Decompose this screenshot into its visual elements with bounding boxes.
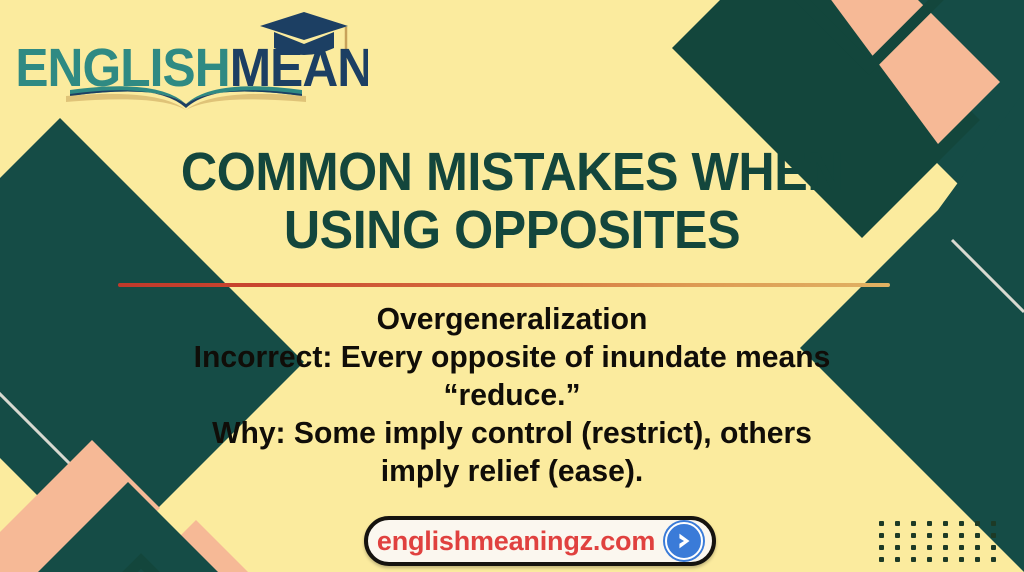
title-line-2: USING OPPOSITES bbox=[36, 201, 988, 259]
grid-dot bbox=[943, 557, 948, 562]
website-url-text: englishmeaningz.com bbox=[377, 526, 655, 557]
grid-dot bbox=[991, 557, 996, 562]
grid-dot bbox=[991, 521, 996, 526]
grid-dot bbox=[927, 557, 932, 562]
logo-artwork: ENGLISHMEANINGZ bbox=[8, 4, 368, 112]
grid-dot bbox=[959, 557, 964, 562]
grid-dot bbox=[879, 557, 884, 562]
grid-dot bbox=[959, 533, 964, 538]
grid-dot bbox=[975, 557, 980, 562]
poster-canvas: ENGLISHMEANINGZ COMMON MISTAKES WHEN USI… bbox=[0, 0, 1024, 572]
grid-dot bbox=[943, 521, 948, 526]
grid-dot bbox=[959, 545, 964, 550]
body-copy: Overgeneralization Incorrect: Every oppo… bbox=[0, 300, 1024, 490]
grid-dot bbox=[927, 533, 932, 538]
bottom-left-peach-band-2 bbox=[58, 520, 258, 572]
grid-dot bbox=[911, 533, 916, 538]
website-badge[interactable]: englishmeaningz.com bbox=[364, 516, 716, 566]
grid-dot bbox=[975, 545, 980, 550]
grid-dot bbox=[959, 521, 964, 526]
grid-dot bbox=[911, 521, 916, 526]
grid-dot bbox=[943, 533, 948, 538]
grid-dot bbox=[975, 521, 980, 526]
grid-dot bbox=[895, 521, 900, 526]
top-right-outline-chevron bbox=[742, 0, 962, 67]
top-right-peach-band bbox=[760, 0, 1000, 144]
grid-dot bbox=[927, 545, 932, 550]
bottom-left-dark-triangle bbox=[20, 482, 280, 572]
grid-dot bbox=[927, 521, 932, 526]
grid-dot bbox=[879, 533, 884, 538]
grid-dot bbox=[895, 545, 900, 550]
grid-dot bbox=[911, 545, 916, 550]
body-line-why-a: Why: Some imply control (restrict), othe… bbox=[15, 414, 1008, 452]
site-logo[interactable]: ENGLISHMEANINGZ bbox=[8, 4, 368, 112]
grid-dot bbox=[879, 545, 884, 550]
chevron-right-glyph bbox=[673, 530, 695, 552]
grid-dot bbox=[879, 521, 884, 526]
page-title: COMMON MISTAKES WHEN USING OPPOSITES bbox=[0, 143, 1024, 259]
body-line-incorrect-b: “reduce.” bbox=[15, 376, 1008, 414]
dot-grid-decoration bbox=[879, 521, 1007, 569]
grid-dot bbox=[991, 533, 996, 538]
grid-dot bbox=[975, 533, 980, 538]
grid-dot bbox=[991, 545, 996, 550]
bottom-left-outline-chevron bbox=[62, 561, 290, 572]
body-line-why-b: imply relief (ease). bbox=[15, 452, 1008, 490]
grid-dot bbox=[943, 545, 948, 550]
grid-dot bbox=[911, 557, 916, 562]
gradient-divider bbox=[118, 283, 890, 287]
body-line-incorrect-a: Incorrect: Every opposite of inundate me… bbox=[15, 338, 1008, 376]
body-line-heading: Overgeneralization bbox=[15, 300, 1008, 338]
title-line-1: COMMON MISTAKES WHEN bbox=[36, 143, 988, 201]
logo-wordmark: ENGLISHMEANINGZ bbox=[15, 37, 368, 97]
grid-dot bbox=[895, 557, 900, 562]
grid-dot bbox=[895, 533, 900, 538]
chevron-right-icon[interactable] bbox=[665, 522, 703, 560]
